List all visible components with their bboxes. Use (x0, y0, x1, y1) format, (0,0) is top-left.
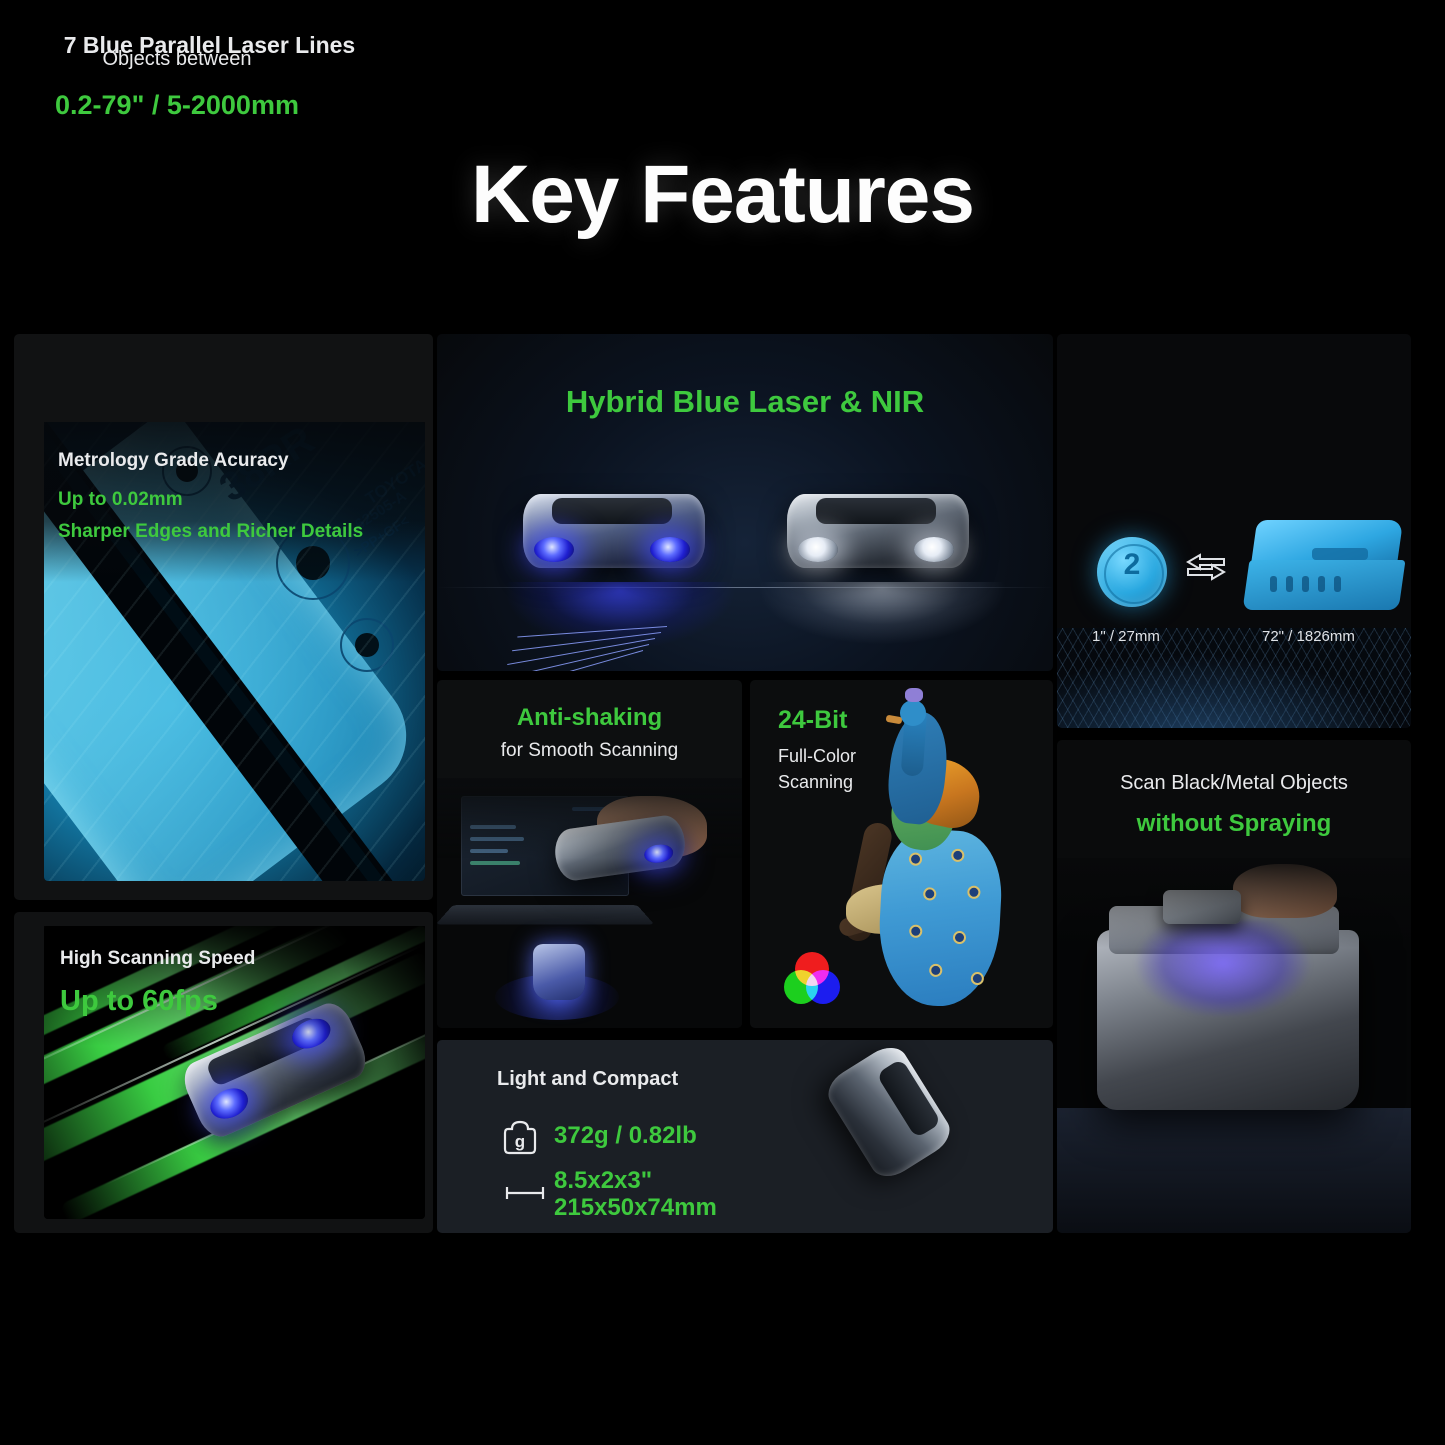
hybrid-title: Hybrid Blue Laser & NIR (437, 384, 1053, 420)
object-size-heading: Objects between (0, 48, 354, 71)
tail-eye-marking (967, 885, 981, 899)
laptop-keyboard (437, 905, 654, 924)
full-color-line1: Full-Color (778, 746, 856, 767)
metrology-heading: Metrology Grade Acuracy (58, 450, 289, 472)
bit-depth-label: 24-Bit (778, 706, 847, 735)
page-title: Key Features (0, 148, 1445, 242)
double-arrow-icon (1184, 550, 1228, 584)
case-vent (1286, 576, 1293, 592)
case-vent (1318, 576, 1325, 592)
accuracy-detail: Sharper Edges and Richer Details (58, 521, 363, 543)
blue-light-pool (485, 582, 755, 668)
tail-eye-marking (909, 924, 923, 938)
scanner-device-nir (787, 494, 969, 568)
dimension-ruler-icon (505, 1186, 545, 1200)
anti-shaking-title: Anti-shaking (437, 704, 742, 732)
scanner-led-left (534, 537, 574, 562)
hard-case-icon (1246, 520, 1406, 615)
dimensions-mm: 215x50x74mm (554, 1194, 717, 1222)
scanner-device-blue (523, 494, 705, 568)
case-vent (1334, 576, 1341, 592)
anti-shaking-subtitle: for Smooth Scanning (437, 740, 742, 762)
black-metal-heading: Scan Black/Metal Objects (1057, 772, 1411, 795)
photo-floor (1057, 1108, 1411, 1233)
small-object-caption: 1" / 27mm (1092, 628, 1160, 645)
peacock-crest (905, 688, 923, 702)
key-features-infographic: Key Features 38RR TOYOTA 62505-A >PP+GF<… (0, 0, 1445, 1445)
tail-eye-marking (909, 852, 923, 866)
tail-eye-marking (923, 887, 937, 901)
tail-eye-marking (929, 964, 943, 978)
coin-denomination: 2 (1097, 548, 1167, 582)
scanner-led-left (798, 537, 838, 562)
panel-black-metal: Scan Black/Metal Objects without Sprayin… (1057, 740, 1411, 1233)
anti-text-scrim (437, 778, 742, 858)
full-color-line2: Scanning (778, 772, 853, 793)
weight-value: 372g / 0.82lb (554, 1122, 697, 1150)
scanned-object (533, 944, 585, 1000)
screen-ui-row (470, 861, 520, 865)
speed-value: Up to 60fps (60, 985, 218, 1018)
light-compact-title: Light and Compact (497, 1068, 678, 1091)
white-light-pool (737, 582, 1027, 664)
scanner-top-plate (552, 498, 672, 523)
speed-heading: High Scanning Speed (60, 948, 255, 970)
dimensions-inches: 8.5x2x3" (554, 1167, 652, 1195)
tail-eye-marking (953, 931, 967, 945)
scanner-body (821, 1040, 957, 1185)
black-metal-text-scrim (1057, 858, 1411, 948)
accuracy-value: Up to 0.02mm (58, 489, 183, 511)
large-object-caption: 72" / 1826mm (1262, 628, 1355, 645)
rgb-venn-icon (784, 952, 840, 1004)
without-spraying-emphasis: without Spraying (1057, 810, 1411, 838)
weight-unit-glyph: g (515, 1132, 525, 1151)
panel-laser-lines: 38RR TOYOTA 62505-A >PP+GF< (14, 334, 433, 900)
panel-hybrid-laser: Hybrid Blue Laser & NIR (437, 334, 1053, 671)
rgb-blue-circle (806, 970, 840, 1004)
case-handle (1312, 548, 1368, 560)
scanner-device-held (821, 1040, 957, 1185)
tail-eye-marking (951, 849, 965, 863)
case-vent (1270, 576, 1277, 592)
peacock-head (900, 700, 926, 726)
case-vent (1302, 576, 1309, 592)
panel-anti-shaking: Anti-shaking for Smooth Scanning (437, 680, 742, 1028)
scanner-top-plate (816, 498, 936, 523)
object-size-range: 0.2-79" / 5-2000mm (0, 90, 354, 121)
weight-tag-icon: g (503, 1118, 537, 1156)
